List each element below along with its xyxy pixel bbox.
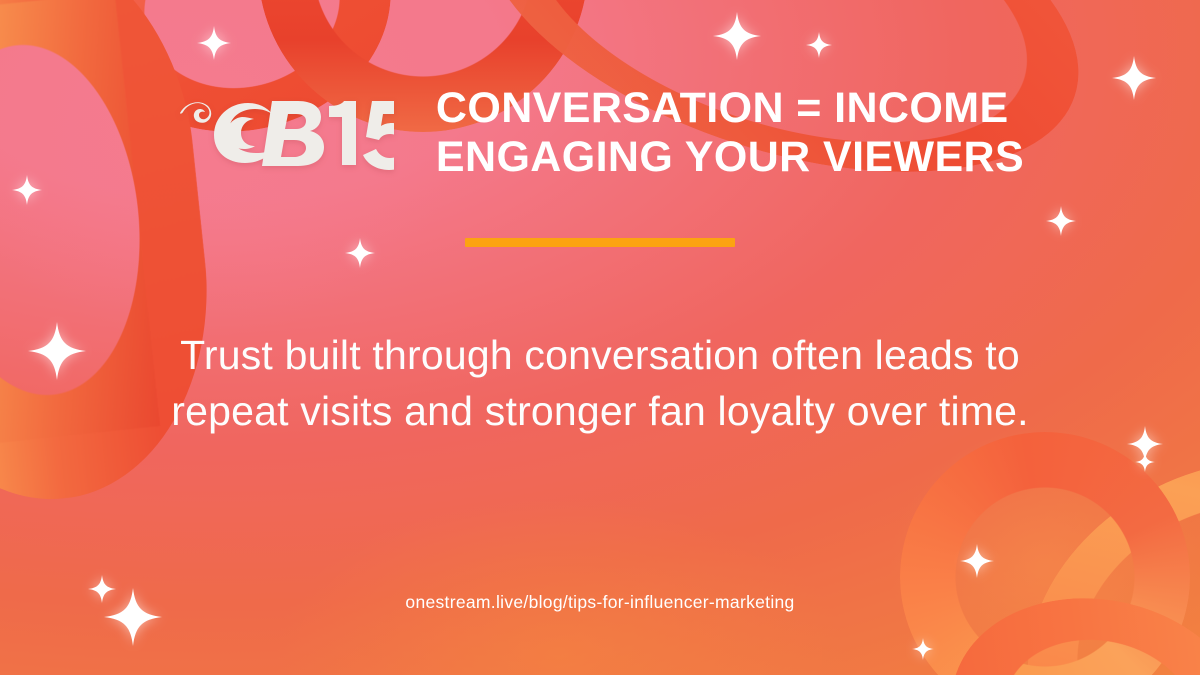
- amber-divider: [465, 238, 735, 247]
- content-layer: CONVERSATION = INCOME ENGAGING YOUR VIEW…: [0, 0, 1200, 675]
- headline-line-2: ENGAGING YOUR VIEWERS: [436, 133, 1024, 182]
- cb15-logo: [176, 87, 394, 179]
- headline-line-1: CONVERSATION = INCOME: [436, 84, 1009, 132]
- body-copy: Trust built through conversation often l…: [125, 327, 1075, 439]
- social-graphic-canvas: CONVERSATION = INCOME ENGAGING YOUR VIEW…: [0, 0, 1200, 675]
- headline: CONVERSATION = INCOME ENGAGING YOUR VIEW…: [436, 84, 1024, 181]
- footer-url: onestream.live/blog/tips-for-influencer-…: [0, 592, 1200, 613]
- header-row: CONVERSATION = INCOME ENGAGING YOUR VIEW…: [0, 84, 1200, 181]
